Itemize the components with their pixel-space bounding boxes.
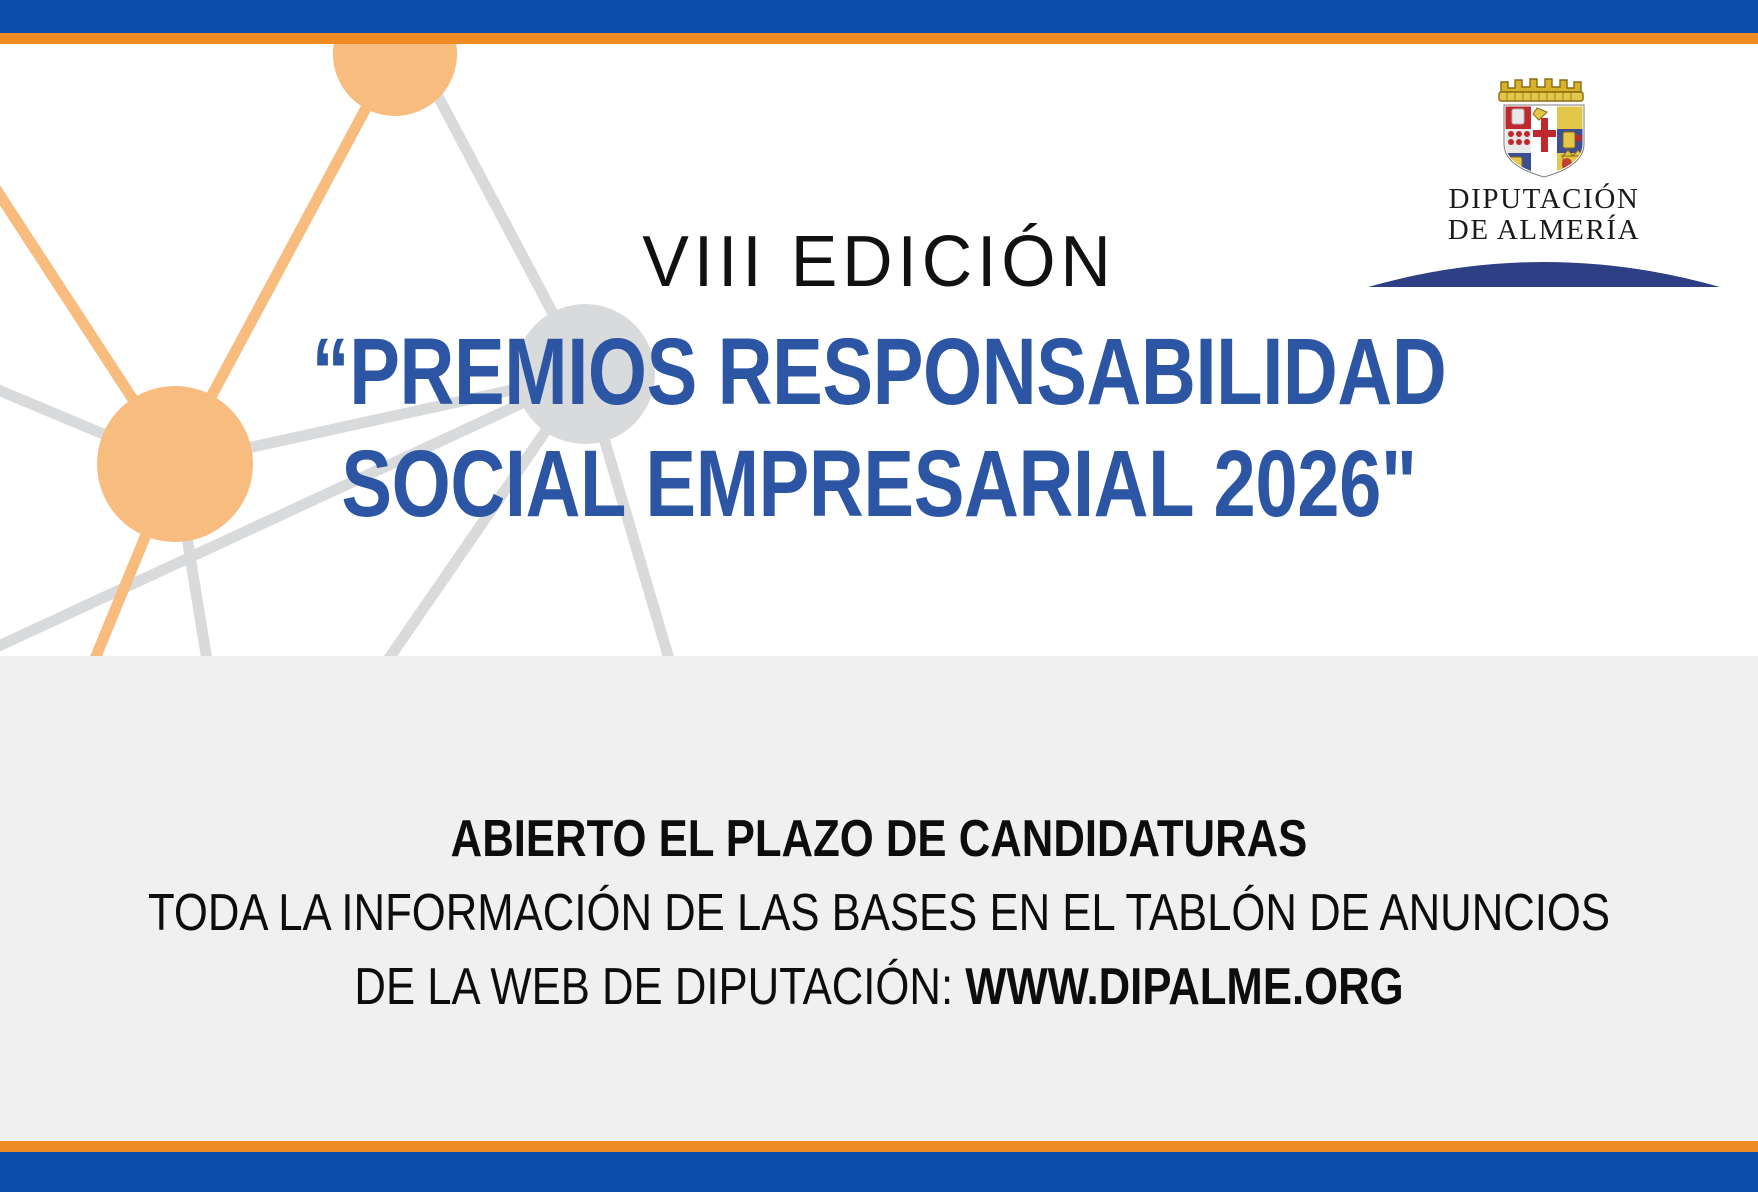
info-text-block: ABIERTO EL PLAZO DE CANDIDATURAS TODA LA… xyxy=(0,810,1758,1017)
top-orange-bar xyxy=(0,33,1758,44)
info-line-website: DE LA WEB DE DIPUTACIÓN: WWW.DIPALME.ORG xyxy=(141,958,1618,1016)
award-title-line-2: SOCIAL EMPRESARIAL 2026" xyxy=(176,428,1582,540)
award-title-line-1: “PREMIOS RESPONSABILIDAD xyxy=(176,316,1582,428)
info-line-open-call: ABIERTO EL PLAZO DE CANDIDATURAS xyxy=(141,810,1618,868)
award-title: “PREMIOS RESPONSABILIDAD SOCIAL EMPRESAR… xyxy=(176,316,1582,540)
top-blue-bar xyxy=(0,0,1758,33)
coat-of-arms-icon xyxy=(1485,72,1603,178)
headline-block: VIII EDICIÓN “PREMIOS RESPONSABILIDAD SO… xyxy=(0,226,1758,540)
info-line-bases: TODA LA INFORMACIÓN DE LAS BASES EN EL T… xyxy=(141,884,1618,942)
poster-canvas: DIPUTACIÓN DE ALMERÍA VIII EDICIÓN “PREM… xyxy=(0,0,1758,1192)
bottom-orange-bar xyxy=(0,1141,1758,1152)
edition-label: VIII EDICIÓN xyxy=(26,226,1731,298)
bottom-blue-bar xyxy=(0,1152,1758,1192)
website-url[interactable]: WWW.DIPALME.ORG xyxy=(965,958,1403,1016)
info-website-prefix: DE LA WEB DE DIPUTACIÓN: xyxy=(354,958,965,1016)
